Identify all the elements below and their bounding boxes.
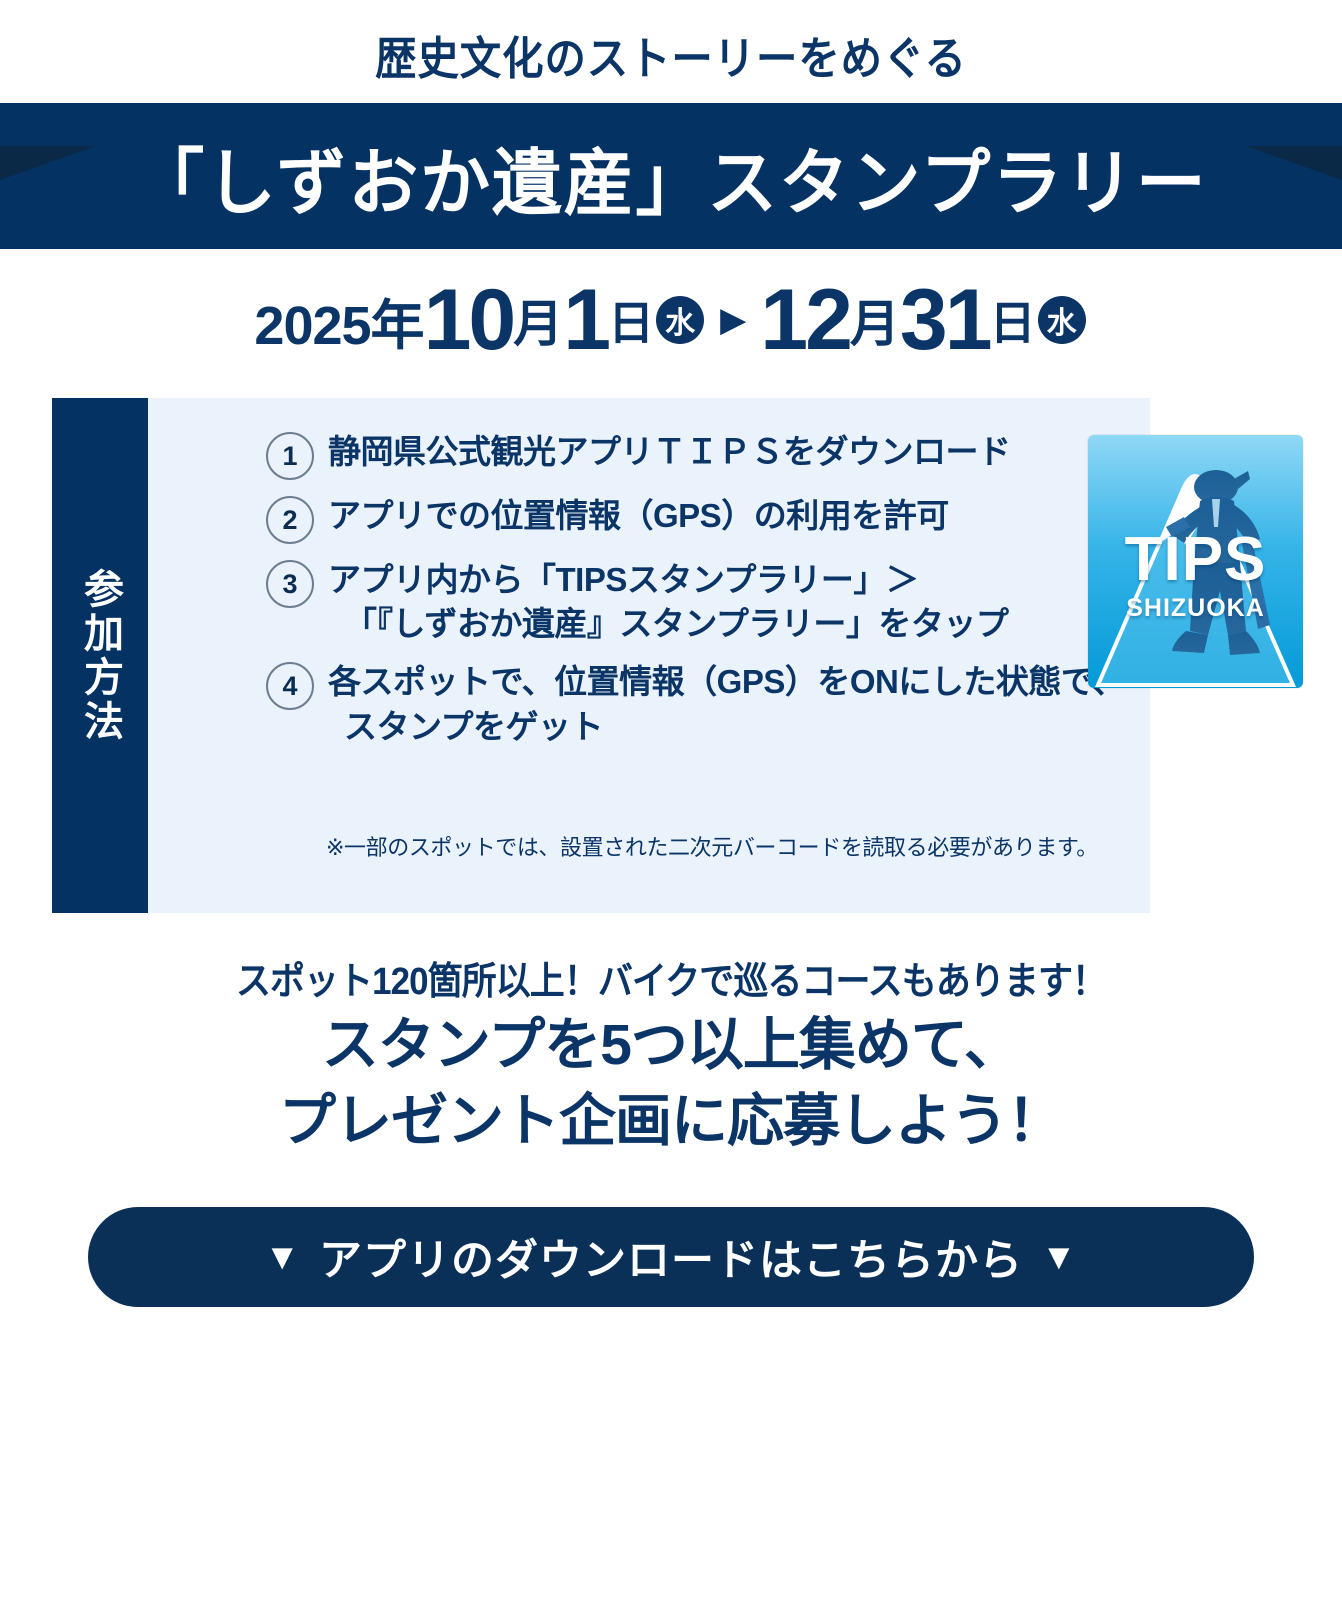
step-line-1: アプリでの位置情報（GPS）の利用を許可 xyxy=(328,497,949,534)
panel-side-bar: 参加方法 xyxy=(52,398,148,913)
day-kanji-end: 日 xyxy=(990,287,1036,353)
date-arrow-icon: ▶ xyxy=(720,300,746,340)
step-line-1: 静岡県公式観光アプリＴＩＰＳをダウンロード xyxy=(328,433,1011,470)
list-item: 4 各スポットで、位置情報（GPS）をONにした状態で、 スタンプをゲット xyxy=(266,660,1056,748)
panel-body: 1 静岡県公式観光アプリＴＩＰＳをダウンロード 2 アプリでの位置情報（GPS）… xyxy=(148,398,1150,913)
step-text: 各スポットで、位置情報（GPS）をONにした状態で、 スタンプをゲット xyxy=(328,660,1125,748)
weekday-badge-start: 水 xyxy=(656,296,704,344)
step-line-2: スタンプをゲット xyxy=(328,705,1125,749)
steps-list: 1 静岡県公式観光アプリＴＩＰＳをダウンロード 2 アプリでの位置情報（GPS）… xyxy=(266,430,1056,763)
list-item: 3 アプリ内から「TIPSスタンプラリー」＞ 「『しずおか遺産』スタンプラリー」… xyxy=(266,558,1056,646)
download-app-button[interactable]: ▼ アプリのダウンロードはこちらから ▼ xyxy=(88,1207,1254,1307)
panel-side-label: 参加方法 xyxy=(71,568,129,744)
step-number: 1 xyxy=(266,432,314,480)
step-line-2: 「『しずおか遺産』スタンプラリー」をタップ xyxy=(328,602,1008,646)
title-ribbon: 「しずおか遺産」スタンプラリー xyxy=(0,103,1342,258)
weekday-badge-end: 水 xyxy=(1038,296,1086,344)
page-title: 「しずおか遺産」スタンプラリー xyxy=(20,103,1322,249)
tips-app-icon: TIPS SHIZUOKA xyxy=(1088,435,1303,688)
date-year: 2025年 xyxy=(254,281,423,360)
promo-text-block: スポット120箇所以上！バイクで巡るコースもあります！ スタンプを5つ以上集めて… xyxy=(0,950,1342,1156)
date-range: 2025年 10 月 1 日 水 ▶ 12 月 31 日 水 xyxy=(0,272,1342,368)
how-to-participate-panel: 参加方法 1 静岡県公式観光アプリＴＩＰＳをダウンロード 2 アプリでの位置情報… xyxy=(52,398,1150,913)
page-subtitle: 歴史文化のストーリーをめぐる xyxy=(54,22,1289,87)
promo-line-1: スポット120箇所以上！バイクで巡るコースもあります！ xyxy=(54,950,1289,1005)
month-kanji-start: 月 xyxy=(513,284,563,356)
month-kanji-end: 月 xyxy=(850,284,900,356)
step-line-1: アプリ内から「TIPSスタンプラリー」＞ xyxy=(328,561,918,598)
step-line-1: 各スポットで、位置情報（GPS）をONにした状態で、 xyxy=(328,663,1125,700)
promo-line-3: プレゼント企画に応募しよう！ xyxy=(0,1087,1342,1157)
step-text: アプリでの位置情報（GPS）の利用を許可 xyxy=(328,494,949,538)
list-item: 1 静岡県公式観光アプリＴＩＰＳをダウンロード xyxy=(266,430,1056,480)
panel-footnote: ※一部のスポットでは、設置された二次元バーコードを読取る必要があります。 xyxy=(326,830,1226,862)
promo-line-2: スタンプを5つ以上集めて、 xyxy=(0,1011,1342,1081)
step-text: アプリ内から「TIPSスタンプラリー」＞ 「『しずおか遺産』スタンプラリー」をタ… xyxy=(328,558,1008,646)
list-item: 2 アプリでの位置情報（GPS）の利用を許可 xyxy=(266,494,1056,544)
triangle-down-icon-left: ▼ xyxy=(264,1236,301,1278)
promo-page: 歴史文化のストーリーをめぐる 「しずおか遺産」スタンプラリー 2025年 10 … xyxy=(0,0,1342,1599)
step-number: 3 xyxy=(266,560,314,608)
step-number: 4 xyxy=(266,662,314,710)
date-start-day: 1 xyxy=(563,277,608,363)
step-text: 静岡県公式観光アプリＴＩＰＳをダウンロード xyxy=(328,430,1011,474)
download-app-label: アプリのダウンロードはこちらから xyxy=(319,1226,1023,1288)
date-start-month: 10 xyxy=(424,277,514,363)
date-end-month: 12 xyxy=(760,277,850,363)
day-kanji-start: 日 xyxy=(608,287,654,353)
date-end-day: 31 xyxy=(900,277,990,363)
triangle-down-icon-right: ▼ xyxy=(1041,1236,1078,1278)
step-number: 2 xyxy=(266,496,314,544)
